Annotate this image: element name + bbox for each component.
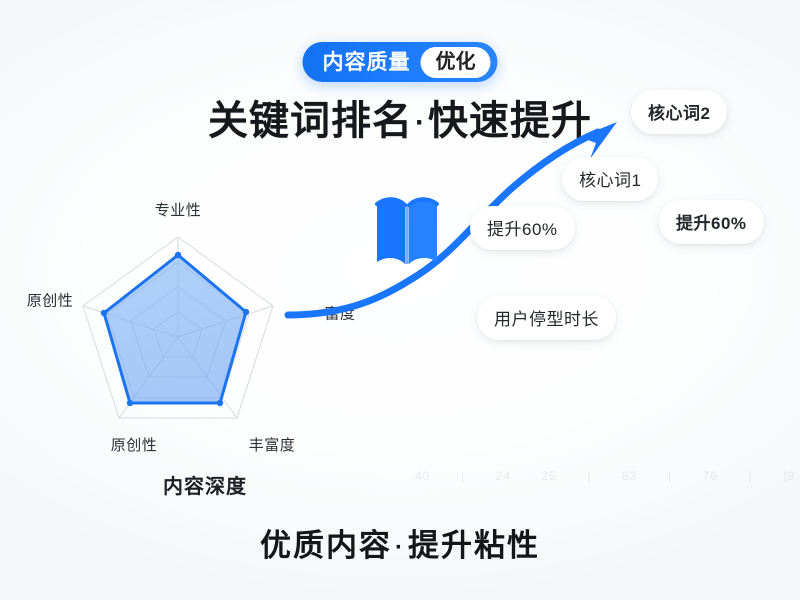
pill-keyword-1[interactable]: 核心词1 [562,157,658,201]
pill-keyword-2[interactable]: 核心词2 [631,90,727,134]
bottom-headline-right: 提升粘性 [408,528,540,563]
radar-data-area [104,255,246,403]
axis-tick: 40 [415,469,430,483]
pill-uplift-left[interactable]: 提升60% [470,206,575,250]
axis-tick: 76 [703,469,718,483]
faint-axis-ticks: 40 | 24 25 | 83 | 76 | |9 [415,466,795,486]
bottom-headline-left: 优质内容 [260,528,392,563]
bottom-headline-separator: · [392,534,408,561]
axis-tick: 25 [541,469,556,483]
radar-axis-label-bottom-left: 原创性 [111,434,158,455]
axis-tick: 83 [622,469,637,483]
open-book-icon [372,188,442,272]
radar-axis-label-top: 专业性 [155,199,202,220]
badge-chip: 优化 [421,47,491,78]
axis-tick: |9 [783,469,795,483]
axis-tick: 24 [496,469,511,483]
axis-tick: | [587,469,591,483]
bottom-headline: 优质内容·提升粘性 [0,520,800,565]
axis-tick: | [748,469,752,483]
radar-axis-label-left: 原创性 [27,290,74,311]
radar-caption: 内容深度 [163,470,247,499]
radar-axis-label-bottom-right: 丰富度 [249,434,296,455]
pill-dwell-time[interactable]: 用户停型时长 [477,296,616,340]
axis-tick: | [461,469,465,483]
axis-tick: | [668,469,672,483]
content-quality-badge: 内容质量 优化 [303,42,498,82]
badge-label: 内容质量 [323,52,421,73]
pill-uplift-right[interactable]: 提升60% [659,200,764,244]
